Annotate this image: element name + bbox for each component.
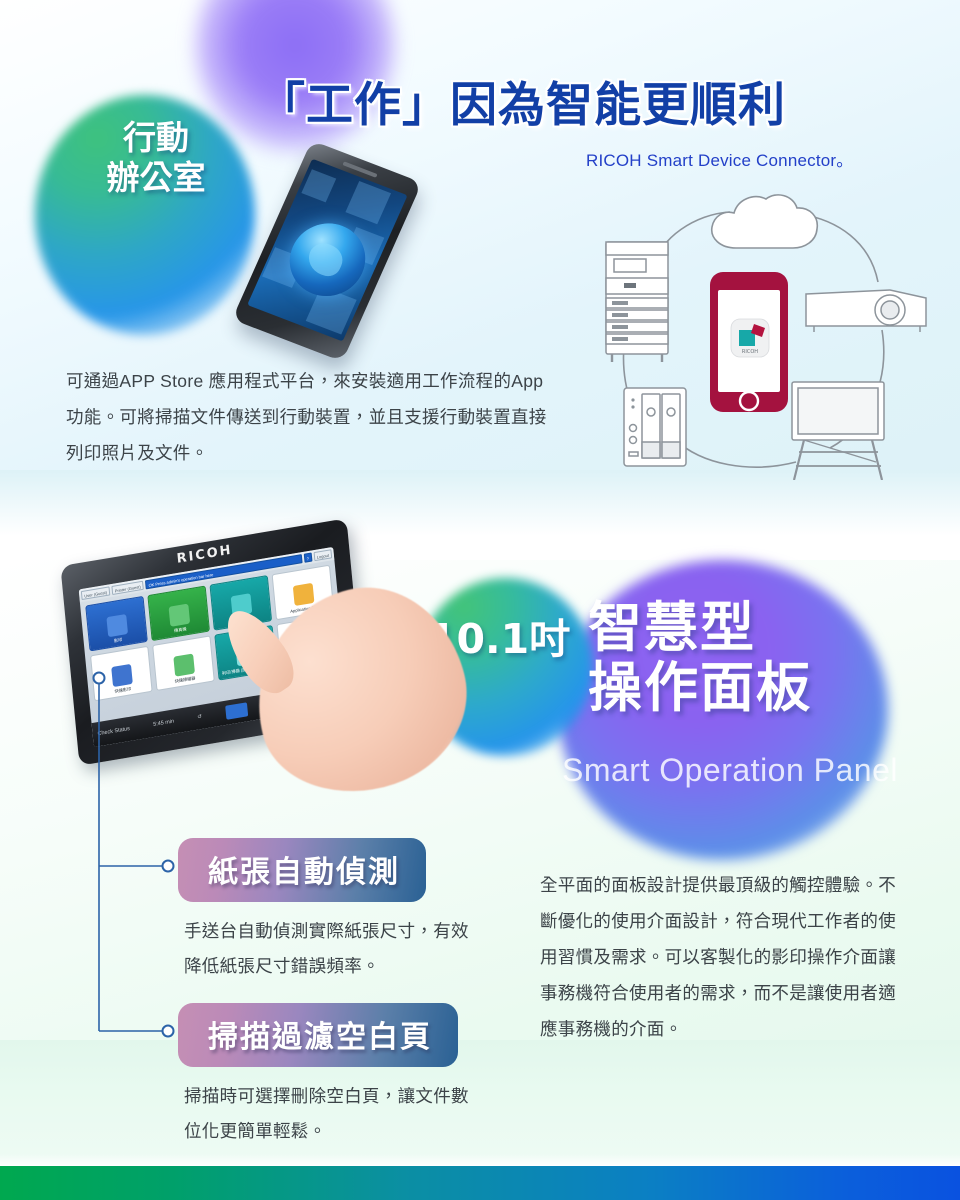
copy-icon — [106, 614, 128, 637]
nas-storage-icon — [624, 388, 686, 466]
check-status-label[interactable]: Check Status — [97, 726, 130, 737]
panel-title: 智慧型 操作面板 — [588, 598, 812, 719]
feature-title-pill: 紙張自動偵測 — [178, 838, 426, 902]
user-chip: User (Guest) — [81, 586, 110, 600]
smartphone-body — [232, 140, 422, 361]
feature-block-2: 掃描過濾空白頁 掃描時可選擇刪除空白頁，讓文件數位化更簡單輕鬆。 — [178, 1003, 484, 1149]
bottom-accent-bar — [0, 1166, 960, 1200]
bottom-bar-fade — [0, 1154, 960, 1166]
center-smartphone-icon: RICOH — [710, 272, 788, 412]
panel-subtitle: Smart Operation Panel — [562, 752, 898, 789]
cloud-icon — [712, 195, 818, 248]
display-monitor-icon — [792, 382, 884, 480]
home-icon[interactable] — [225, 702, 248, 720]
svg-text:RICOH: RICOH — [742, 349, 758, 355]
panel-tile-quick-copy[interactable]: 快速影印 — [90, 646, 153, 702]
panel-tile-label: 影印 — [114, 638, 123, 644]
panel-tile-fax[interactable]: 傳真機 — [147, 585, 210, 641]
panel-title-line2: 操作面板 — [588, 658, 812, 718]
smartphone-screen — [247, 159, 407, 342]
logout-chip: Logout — [313, 549, 332, 561]
panel-tile-copy[interactable]: 影印 — [85, 596, 148, 652]
fax-icon — [168, 604, 190, 627]
feature-title-pill: 掃描過濾空白頁 — [178, 1003, 458, 1067]
globe-icon — [278, 213, 377, 307]
mobile-office-label-line2: 辦公室 — [66, 158, 246, 198]
panel-tile-label: 快速掃描器 — [175, 677, 196, 685]
smartphone-illustration — [248, 145, 418, 360]
mobile-office-label-line1: 行動 — [66, 118, 246, 158]
intro-paragraph: 可通過APP Store 應用程式平台，來安裝適用工作流程的App功能。可將掃描… — [66, 364, 556, 472]
network-diagram: RICOH — [590, 190, 940, 480]
product-subtitle: RICOH Smart Device Connector。 — [586, 146, 853, 171]
mobile-office-label: 行動 辦公室 — [66, 118, 246, 199]
panel-tile-label: 快速影印 — [115, 687, 132, 695]
link-display-nas — [676, 440, 796, 467]
application-site-icon — [292, 583, 314, 606]
printer-chip: Printer (Guest) — [111, 581, 144, 595]
quick-copy-icon — [111, 664, 133, 687]
panel-tile-label: 傳真機 — [174, 627, 187, 634]
multifunction-printer-icon — [606, 242, 668, 362]
feature-description: 掃描時可選擇刪除空白頁，讓文件數位化更簡單輕鬆。 — [184, 1079, 484, 1149]
feature-block-1: 紙張自動偵測 手送台自動偵測實際紙張尺寸，有效降低紙張尺寸錯誤頻率。 — [178, 838, 484, 984]
projector-icon — [806, 290, 926, 332]
help-chip: ? — [303, 553, 312, 563]
back-icon[interactable]: ↺ — [197, 714, 202, 721]
feature-description: 手送台自動偵測實際紙張尺寸，有效降低紙張尺寸錯誤頻率。 — [184, 914, 484, 984]
panel-clock: 5:45 min — [153, 719, 174, 728]
panel-description-paragraph: 全平面的面板設計提供最頂級的觸控體驗。不斷優化的使用介面設計，符合現代工作者的使… — [540, 868, 910, 1047]
poster-page: 「工作」因為智能更順利 RICOH Smart Device Connector… — [0, 0, 960, 1200]
page-title: 「工作」因為智能更順利 — [258, 66, 786, 135]
quick-scan-icon — [173, 654, 195, 677]
panel-tile-quick-scan[interactable]: 快速掃描器 — [152, 635, 215, 691]
panel-title-line1: 智慧型 — [588, 598, 812, 658]
